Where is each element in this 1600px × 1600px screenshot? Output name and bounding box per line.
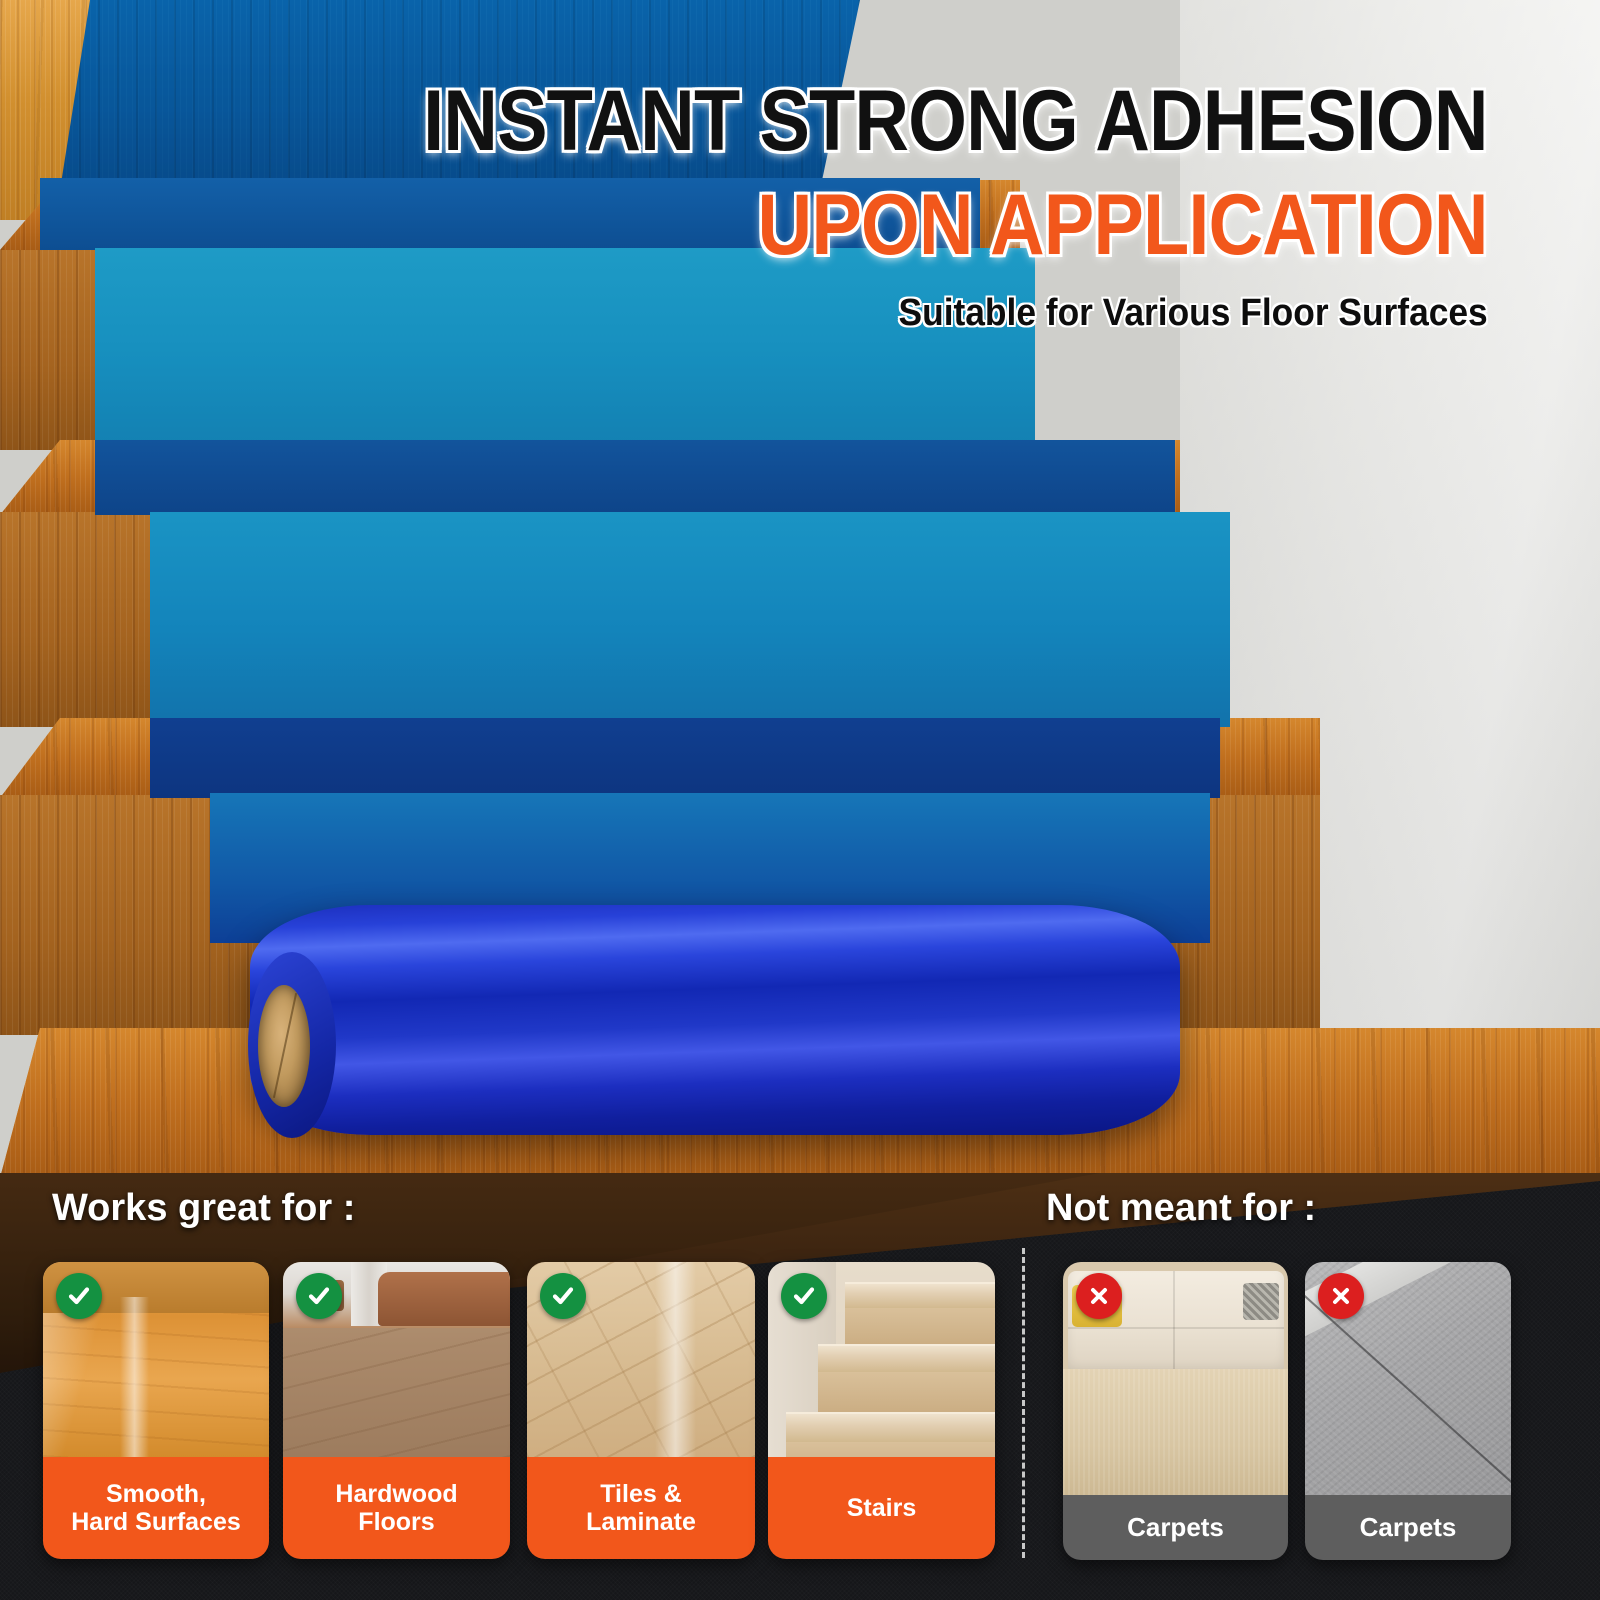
card-label: Carpets [1063, 1495, 1288, 1560]
card-label-line2: Hard Surfaces [71, 1508, 241, 1536]
card-label-text: Carpets [1360, 1513, 1457, 1542]
not-meant-for-title: Not meant for : [1046, 1187, 1316, 1230]
film-roll-core [258, 985, 310, 1107]
card-label: Stairs [768, 1457, 995, 1559]
check-icon [56, 1273, 102, 1319]
headline-primary: INSTANT STRONG ADHESION [423, 78, 1488, 164]
good-card[interactable]: Tiles & Laminate [527, 1262, 755, 1559]
bad-card[interactable]: Carpets [1305, 1262, 1511, 1560]
card-label: Hardwood Floors [283, 1457, 510, 1559]
headline-accent: UPON APPLICATION [423, 182, 1488, 268]
protective-film-step4 [150, 718, 1220, 798]
card-label-line1: Smooth, [106, 1480, 206, 1508]
bad-card[interactable]: Carpets [1063, 1262, 1288, 1560]
check-icon [781, 1273, 827, 1319]
protective-film-riser3 [150, 512, 1230, 727]
card-label-line2: Floors [358, 1508, 434, 1536]
works-great-for-title: Works great for : [52, 1187, 355, 1230]
good-card[interactable]: Stairs [768, 1262, 995, 1559]
card-label-text: Carpets [1127, 1513, 1224, 1542]
card-label-line1: Stairs [847, 1494, 916, 1522]
hero-image: INSTANT STRONG ADHESION UPON APPLICATION… [0, 0, 1600, 1175]
card-label: Smooth, Hard Surfaces [43, 1457, 269, 1559]
card-label: Tiles & Laminate [527, 1457, 755, 1559]
good-card[interactable]: Smooth, Hard Surfaces [43, 1262, 269, 1559]
cross-icon [1076, 1273, 1122, 1319]
film-roll [250, 905, 1180, 1135]
card-label: Carpets [1305, 1495, 1511, 1560]
protective-film-step3 [95, 440, 1175, 515]
good-card[interactable]: Hardwood Floors [283, 1262, 510, 1559]
check-icon [540, 1273, 586, 1319]
check-icon [296, 1273, 342, 1319]
cross-icon [1318, 1273, 1364, 1319]
card-label-line2: Laminate [586, 1508, 696, 1536]
section-divider [1022, 1248, 1025, 1558]
headline-subtitle: Suitable for Various Floor Surfaces [363, 294, 1488, 332]
card-label-line1: Hardwood [335, 1480, 457, 1508]
headline-block: INSTANT STRONG ADHESION UPON APPLICATION… [278, 78, 1488, 332]
card-label-line1: Tiles & [600, 1480, 682, 1508]
